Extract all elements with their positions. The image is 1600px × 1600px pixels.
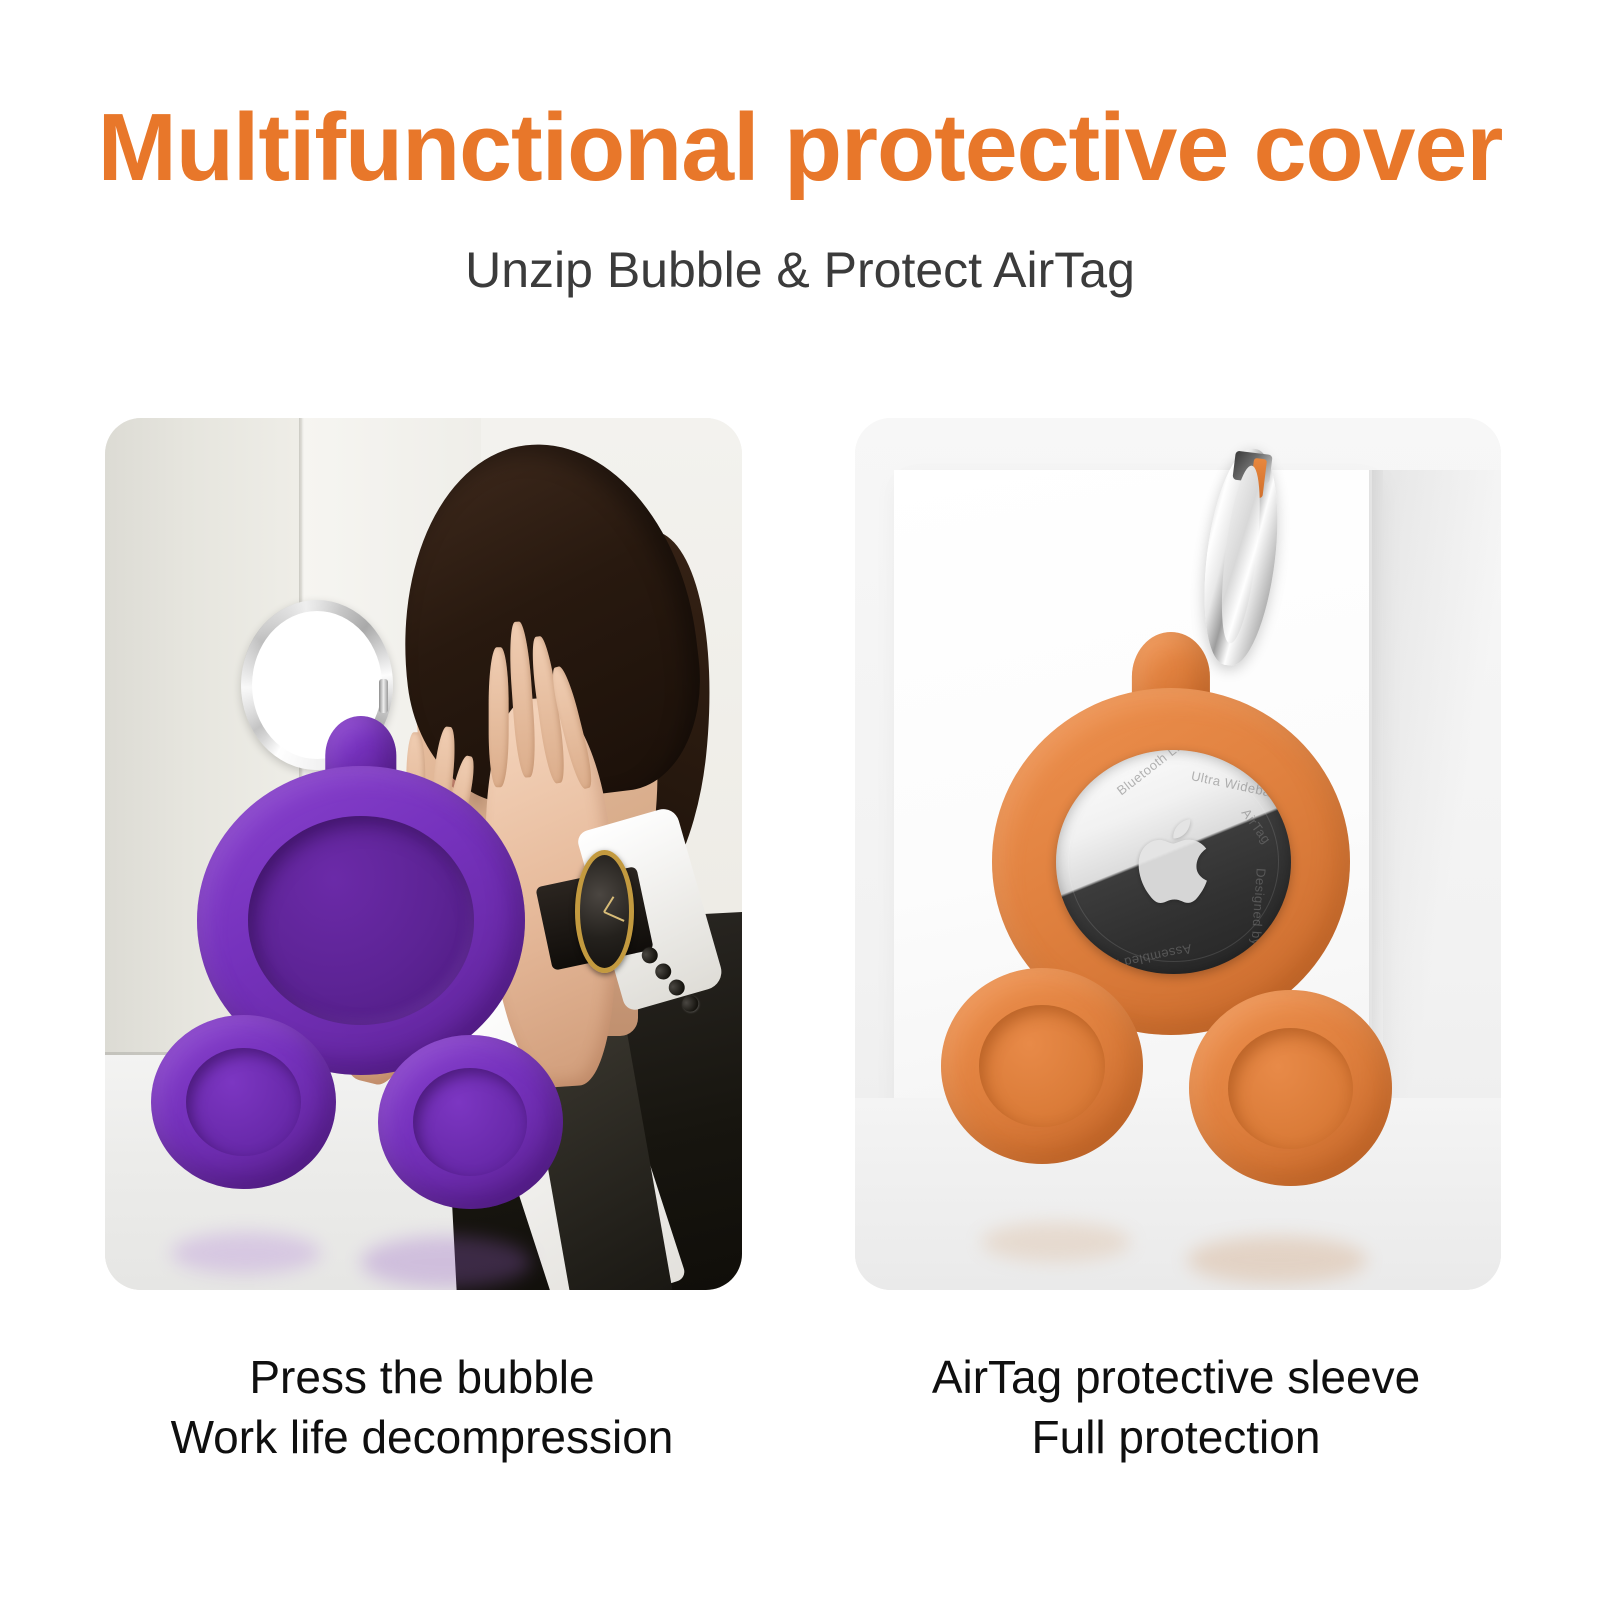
bubble-right xyxy=(1189,990,1391,1186)
carabiner-inner-highlight xyxy=(1214,464,1267,645)
engraving-part: Assembled in China xyxy=(1068,941,1193,974)
carabiner-gate xyxy=(379,679,388,713)
engraving-part: Ultra Wideband xyxy=(1190,768,1288,803)
bubble-dimple xyxy=(413,1068,528,1176)
product-panel-left xyxy=(105,418,742,1290)
airtag-cavity xyxy=(248,816,475,1025)
page-title: Multifunctional protective cover xyxy=(8,96,1592,200)
bubble-dimple xyxy=(1228,1028,1353,1150)
bubble-right xyxy=(378,1035,563,1209)
apple-logo-icon xyxy=(1129,808,1223,920)
apple-airtag: Bluetooth LE Ultra Wideband AirTag Desig… xyxy=(1056,750,1291,974)
caption-right-line1: AirTag protective sleeve xyxy=(856,1348,1496,1408)
watch-hand-minute xyxy=(604,912,625,923)
product-reflection xyxy=(1187,1236,1367,1284)
bubble-left xyxy=(151,1015,336,1189)
caption-right: AirTag protective sleeve Full protection xyxy=(856,1348,1496,1468)
product-reflection xyxy=(361,1236,531,1288)
product-case-orange: Bluetooth LE Ultra Wideband AirTag Desig… xyxy=(941,632,1401,1192)
caption-left-line1: Press the bubble xyxy=(102,1348,742,1408)
engraving-part: Designed by Apple in California xyxy=(1240,867,1269,973)
bubble-dimple xyxy=(186,1048,301,1156)
bubble-dimple xyxy=(979,1005,1104,1127)
caption-left-line2: Work life decompression xyxy=(102,1408,742,1468)
product-reflection xyxy=(981,1222,1131,1262)
product-reflection xyxy=(171,1232,321,1274)
caption-left: Press the bubble Work life decompression xyxy=(102,1348,742,1468)
product-case-purple xyxy=(151,716,571,1214)
engraving-part: AirTag xyxy=(1239,805,1275,846)
product-marketing-page: Multifunctional protective cover Unzip B… xyxy=(0,0,1600,1600)
wristwatch xyxy=(575,850,634,973)
engraving-part: Bluetooth LE xyxy=(1114,750,1187,798)
bubble-left xyxy=(941,968,1143,1164)
caption-right-line2: Full protection xyxy=(856,1408,1496,1468)
page-subtitle: Unzip Bubble & Protect AirTag xyxy=(0,240,1600,300)
product-panel-right: Bluetooth LE Ultra Wideband AirTag Desig… xyxy=(855,418,1501,1290)
